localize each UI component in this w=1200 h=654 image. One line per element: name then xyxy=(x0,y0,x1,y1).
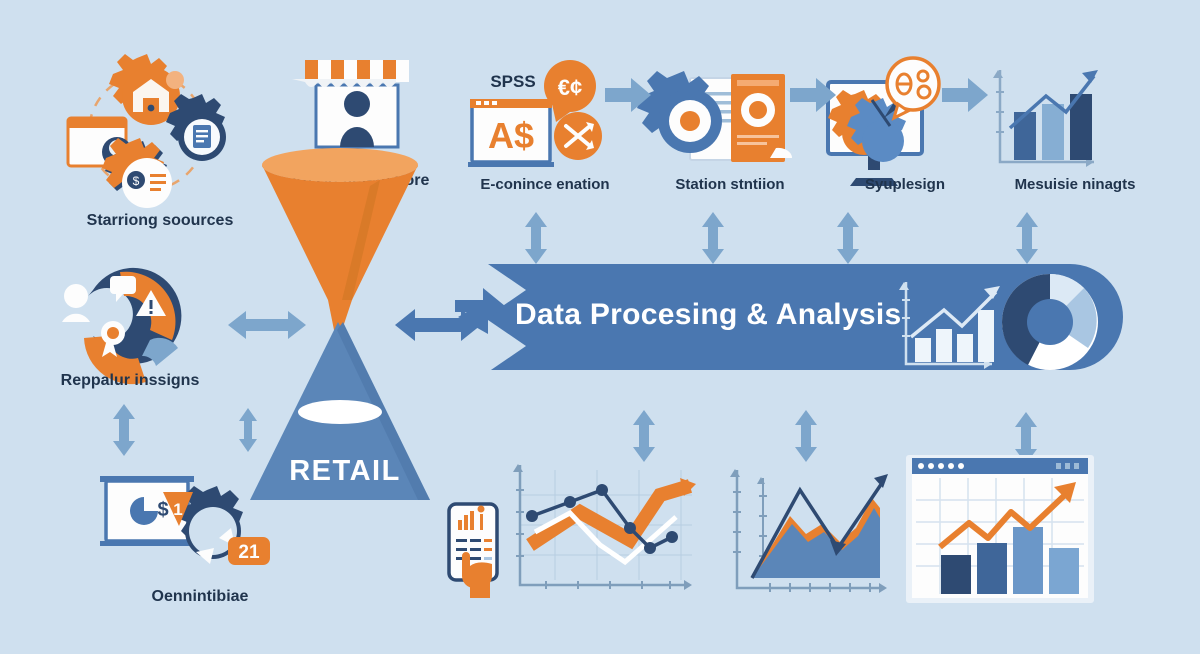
badge-text: 21 xyxy=(238,542,260,563)
screen-symbol: A$ xyxy=(488,115,534,156)
step-measure-label: Mesuisie ninagts xyxy=(960,176,1190,193)
shuffle-icon xyxy=(554,112,602,160)
banner-bar-4 xyxy=(978,310,994,362)
badge-count: 21 xyxy=(228,537,270,565)
svg-text:$: $ xyxy=(133,174,140,188)
insights-label: Reppalur inssigns xyxy=(10,372,250,390)
funnel-rim xyxy=(262,148,418,182)
dash-bar-3 xyxy=(1013,527,1043,594)
banner-bar-2 xyxy=(936,329,952,362)
dash-bar-4 xyxy=(1049,548,1079,594)
banner-donut-chart xyxy=(1002,274,1098,370)
window-controls xyxy=(1056,463,1079,469)
sources-label: Starriong soources xyxy=(30,212,290,230)
chart-dashboard[interactable] xyxy=(906,455,1094,603)
svg-text:$: $ xyxy=(157,499,168,521)
spss-label: SPSS xyxy=(468,72,558,92)
svg-text:€¢: €¢ xyxy=(558,75,582,100)
bar-2 xyxy=(1042,104,1064,160)
optimize-label: Oennintibiae xyxy=(80,588,320,606)
sub-badge-text: 1 xyxy=(173,500,182,519)
banner-title: Data Procesing & Analysis xyxy=(515,298,915,332)
retail-label: RETAIL xyxy=(250,455,440,488)
dash-bar-2 xyxy=(977,543,1007,594)
monitor-currency-icon: A$ xyxy=(468,99,554,167)
infographic-canvas: $ Starriong soources An Commere tiore xyxy=(0,0,1200,654)
cone-highlight xyxy=(298,400,382,424)
banner-bar-1 xyxy=(915,338,931,362)
banner-bar-3 xyxy=(957,334,973,362)
dash-bar-1 xyxy=(941,555,971,594)
